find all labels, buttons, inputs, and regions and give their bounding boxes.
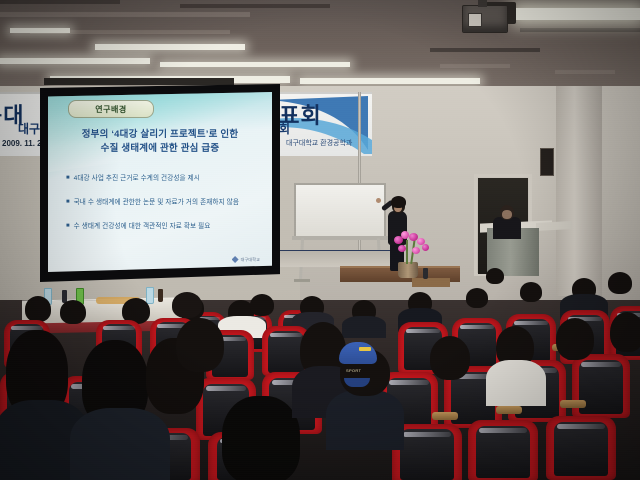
slide-footer-logo: 대구대학교 (232, 256, 260, 263)
slide-bullet-item: ■ 4대강 사업 추진 근거로 수계의 건강성을 제시 (66, 174, 262, 183)
slide-bullet-item: ■ 수 생태계 건강성에 대한 객관적인 자료 확보 필요 (66, 222, 262, 231)
seat (468, 420, 538, 480)
presenter-hand (376, 198, 381, 203)
audience-head (60, 300, 86, 324)
audience-shoulders (486, 360, 546, 406)
lecture-hall-photo: 구대 발표회 대구 표회 2009. 11. 20(금) 대구대학교 환경공학과… (0, 0, 640, 480)
banner-subline-left: 대구 (18, 120, 40, 137)
bullet-marker-icon: ■ (66, 222, 70, 231)
audience-shoulders (342, 316, 386, 338)
whiteboard-tray (292, 236, 388, 240)
audience-head (250, 294, 274, 316)
slide-bullet-list: ■ 4대강 사업 추진 근거로 수계의 건강성을 제시 ■ 국내 수 생태계에 … (66, 174, 262, 246)
bullet-marker-icon: ■ (66, 198, 70, 207)
audience-head (466, 288, 488, 308)
bullet-marker-icon: ■ (66, 174, 70, 183)
university-logo-icon (232, 256, 239, 263)
orchid-pot (398, 262, 418, 278)
slide-footer-logo-text: 대구대학교 (241, 257, 260, 263)
cap-wearer-shoulders (326, 390, 404, 450)
audience-head (556, 318, 594, 360)
banner-department: 대구대학교 환경공학과 (286, 138, 352, 148)
wall-column (556, 86, 602, 296)
orchid-bloom (401, 231, 409, 239)
audience-head (610, 312, 640, 352)
projector-lens (468, 13, 482, 27)
beverage-can (158, 289, 163, 302)
armrest (560, 400, 586, 408)
slide-title-line-2: 수질 생태계에 관한 관심 급증 (58, 142, 262, 156)
cap-logo-icon (359, 347, 371, 351)
slide-bullet-item: ■ 국내 수 생태계에 관한한 논문 및 자료가 거의 존재하지 않음 (66, 198, 262, 207)
orchid-bloom (398, 245, 406, 252)
audience-head (222, 396, 300, 480)
audience-head (520, 282, 542, 302)
seat (572, 354, 630, 418)
audience-head (486, 268, 504, 284)
projector-mount (478, 0, 487, 7)
mobile-whiteboard (294, 183, 386, 238)
wall-speaker-icon (540, 148, 554, 176)
orchid-bloom (422, 244, 429, 251)
water-bottle (146, 287, 154, 304)
podium-person-body (493, 217, 521, 239)
slide-title: 정부의 ‘4대강 살리기 프로젝트’로 인한 수질 생태계에 관한 관심 급증 (58, 128, 262, 156)
cap-brand-text: SPORT (346, 368, 361, 373)
wall-wainscot (280, 250, 400, 267)
ceiling-projector (462, 5, 508, 33)
podium-person-face (502, 210, 512, 219)
whiteboard-foot (294, 279, 310, 282)
presenter-hair (391, 196, 406, 208)
baseball-cap (339, 342, 377, 364)
slide-section-badge-label: 연구배경 (95, 104, 126, 115)
projected-slide: 연구배경 정부의 ‘4대강 살리기 프로젝트’로 인한 수질 생태계에 관한 관… (48, 92, 272, 272)
armrest (432, 412, 458, 420)
orchid-stem (406, 240, 408, 264)
slide-bullet-text: 국내 수 생태계에 관한한 논문 및 자료가 거의 존재하지 않음 (74, 198, 239, 207)
projection-screen: 연구배경 정부의 ‘4대강 살리기 프로젝트’로 인한 수질 생태계에 관한 관… (40, 84, 280, 282)
side-table (412, 278, 450, 287)
audience-shoulders (70, 408, 170, 480)
audience-head (430, 336, 470, 380)
audience-head (25, 296, 51, 322)
slide-section-badge: 연구배경 (68, 100, 154, 118)
audience-head (172, 292, 202, 318)
water-bottle (423, 268, 428, 279)
armrest (496, 406, 522, 414)
slide-bullet-text: 4대강 사업 추진 근거로 수계의 건강성을 제시 (74, 174, 200, 183)
orchid-bloom (412, 247, 420, 254)
audience-head (608, 272, 632, 294)
audience-head (176, 318, 224, 372)
slide-title-line-1: 정부의 ‘4대강 살리기 프로젝트’로 인한 (58, 128, 262, 142)
seat (546, 416, 616, 480)
slide-bullet-text: 수 생태계 건강성에 대한 객관적인 자료 확보 필요 (74, 222, 211, 231)
